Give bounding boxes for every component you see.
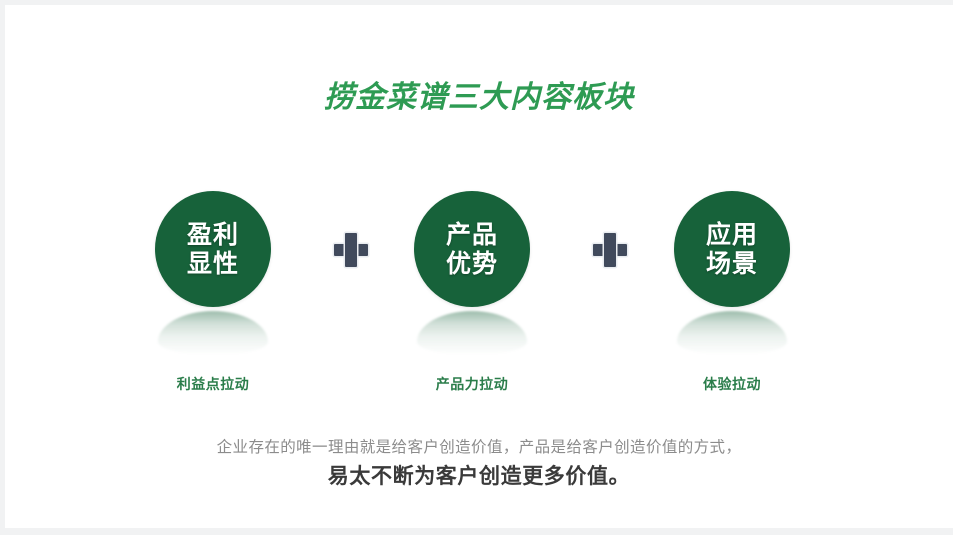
diagram-caption-3: 体验拉动 <box>642 375 822 395</box>
circle-label-1: 盈利 显性 <box>187 220 239 278</box>
diagram-node-2[interactable]: 产品 优势 <box>414 191 530 351</box>
circle-badge-2[interactable]: 产品 优势 <box>414 191 530 307</box>
footer-statement: 企业存在的唯一理由就是给客户创造价值，产品是给客户创造价值的方式， 易太不断为客… <box>5 435 953 492</box>
plus-icon-1-vertical-bar <box>345 233 357 267</box>
footer-statement-line-2: 易太不断为客户创造更多价值。 <box>5 460 953 492</box>
slide-canvas: 捞金菜谱三大内容板块 盈利 显性 产品 优势 <box>5 5 953 528</box>
diagram-node-3[interactable]: 应用 场景 <box>674 191 790 351</box>
circle-label-2: 产品 优势 <box>446 220 498 278</box>
slide-frame: 捞金菜谱三大内容板块 盈利 显性 产品 优势 <box>0 0 953 535</box>
circle-badge-1[interactable]: 盈利 显性 <box>155 191 271 307</box>
diagram-node-1[interactable]: 盈利 显性 <box>155 191 271 351</box>
caption-row: 利益点拉动 产品力拉动 体验拉动 <box>5 375 953 397</box>
plus-icon-1 <box>334 233 368 267</box>
circle-label-3: 应用 场景 <box>706 220 758 278</box>
diagram-caption-2: 产品力拉动 <box>382 375 562 395</box>
circle-badge-3[interactable]: 应用 场景 <box>674 191 790 307</box>
diagram-caption-1: 利益点拉动 <box>123 375 303 395</box>
page-title: 捞金菜谱三大内容板块 <box>5 79 953 117</box>
diagram-row: 盈利 显性 产品 优势 <box>5 191 953 351</box>
footer-statement-line-1: 企业存在的唯一理由就是给客户创造价值，产品是给客户创造价值的方式， <box>5 435 953 460</box>
plus-icon-2-vertical-bar <box>604 233 616 267</box>
plus-icon-2 <box>593 233 627 267</box>
circle-reflection-3 <box>677 311 787 355</box>
circle-reflection-1 <box>158 311 268 355</box>
circle-reflection-2 <box>417 311 527 355</box>
